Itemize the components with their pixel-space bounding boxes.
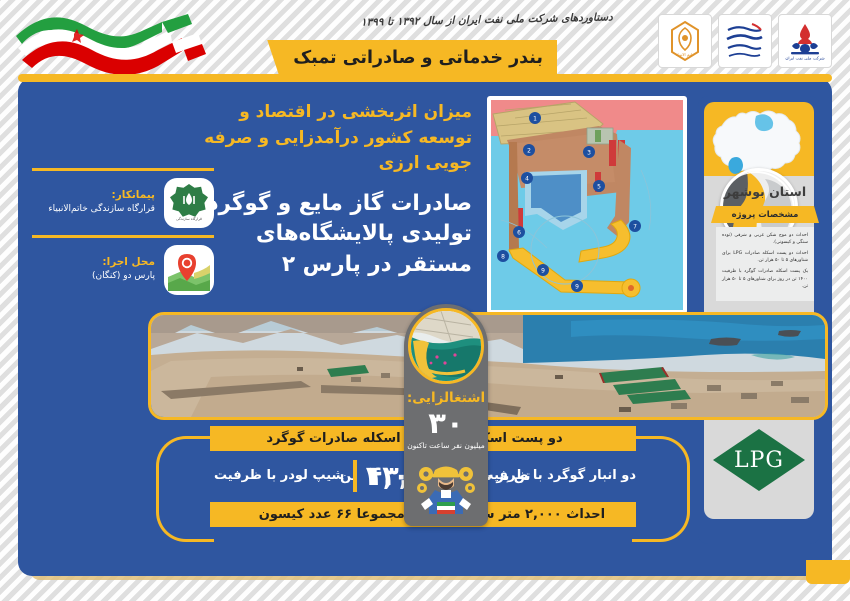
- contractor-row: قرارگاه سازندگی پیمانکار: قرارگاه سازندگ…: [32, 178, 214, 228]
- employment-unit: میلیون نفر ساعت تاکنون: [404, 440, 488, 451]
- spec-line: احداث دو موج شکن غربی و شرقی (توده سنگی …: [722, 232, 808, 246]
- map-pin-icon: [164, 245, 214, 295]
- contractor-text: پیمانکار: قرارگاه سازندگی خاتم‌الانبیاء: [32, 189, 155, 216]
- page-header: دستاوردهای شرکت ملی نفت ایران از سال ۱۳۹…: [0, 0, 850, 82]
- employment-badge: اشتغالزایی: ۳۰ میلیون نفر ساعت تاکنون: [404, 304, 488, 526]
- svg-text:8: 8: [501, 253, 505, 260]
- subhead-text: صادرات گاز مایع و گوگرد تولیدی پالایشگاه…: [182, 189, 472, 281]
- svg-text:4: 4: [525, 175, 529, 182]
- employment-label: اشتغالزایی:: [404, 390, 488, 406]
- location-label: محل اجرا:: [32, 256, 155, 268]
- svg-text:خاتم الانبیاء: خاتم الانبیاء: [676, 52, 695, 57]
- svg-text:2: 2: [527, 147, 531, 154]
- meta-divider: [32, 168, 214, 171]
- meta-divider: [32, 235, 214, 238]
- svg-text:5: 5: [597, 183, 601, 190]
- svg-text:7: 7: [633, 223, 637, 230]
- eqtesad-moghavemati-logo: [718, 14, 772, 68]
- left-stats-bracket: [156, 436, 214, 542]
- spec-line: یک پست اسکله صادرات گوگرد با ظرفیت ۱۴۰۰ …: [722, 268, 808, 289]
- svg-text:1: 1: [533, 115, 537, 122]
- port-layout-plan: 1 2 3 4 5 6 7 8 9 9: [487, 96, 687, 314]
- location-row: محل اجرا: پارس دو (کنگان): [32, 245, 214, 295]
- svg-text:قرارگاه سازندگی: قرارگاه سازندگی: [176, 216, 202, 221]
- logo-group: شرکت ملی نفت ایران: [658, 14, 832, 68]
- location-text: محل اجرا: پارس دو (کنگان): [32, 256, 155, 283]
- khatam-al-anbiya-logo: خاتم الانبیاء: [658, 14, 712, 68]
- svg-text:شرکت ملی نفت ایران: شرکت ملی نفت ایران: [785, 56, 825, 61]
- iran-flag-ribbon-icon: [12, 6, 207, 76]
- khatam-contractor-icon: قرارگاه سازندگی: [164, 178, 214, 228]
- location-value: پارس دو (کنگان): [32, 270, 155, 283]
- spec-line: احداث دو پست اسکله صادرات LPG برای شناور…: [722, 250, 808, 264]
- page-title-banner: بندر خدماتی و صادراتی تمبک: [267, 40, 557, 76]
- svg-text:9: 9: [541, 267, 545, 274]
- corner-accent: [806, 560, 850, 584]
- province-name: استان بوشهر: [710, 184, 820, 199]
- main-panel: استان بوشهر مشخصات پروژه احداث دو موج شک…: [18, 78, 832, 576]
- contractor-value: قرارگاه سازندگی خاتم‌الانبیاء: [32, 203, 155, 216]
- lpg-logo: LPG: [713, 429, 805, 491]
- meta-block: قرارگاه سازندگی پیمانکار: قرارگاه سازندگ…: [32, 168, 214, 302]
- port-plan-thumbnail-icon: [408, 308, 484, 384]
- infographic-page: دستاوردهای شرکت ملی نفت ایران از سال ۱۳۹…: [0, 0, 850, 601]
- nioc-achievements-line: دستاوردهای شرکت ملی نفت ایران از سال ۱۳۹…: [357, 11, 617, 42]
- employment-number: ۳۰: [404, 408, 488, 438]
- contractor-label: پیمانکار:: [32, 189, 155, 201]
- ship-loader-label: شیپ لودر با ظرفیت: [214, 467, 344, 485]
- spec-ribbon-label: مشخصات پروژه: [711, 206, 819, 223]
- svg-text:3: 3: [587, 149, 591, 156]
- headline-text: میزان اثربخشی در اقتصاد و توسعه کشور درآ…: [182, 100, 472, 177]
- title-block: میزان اثربخشی در اقتصاد و توسعه کشور درآ…: [182, 100, 472, 280]
- svg-text:6: 6: [517, 229, 521, 236]
- stat-divider-bar: [353, 460, 357, 492]
- right-stats-bracket: [632, 436, 690, 542]
- aerial-photo-of-port-construction: [148, 312, 828, 420]
- worker-gears-icon: [404, 458, 488, 524]
- project-spec-sheet: احداث دو موج شکن غربی و شرقی (توده سنگی …: [716, 227, 814, 301]
- nioc-logo: شرکت ملی نفت ایران: [778, 14, 832, 68]
- svg-text:9: 9: [575, 283, 579, 290]
